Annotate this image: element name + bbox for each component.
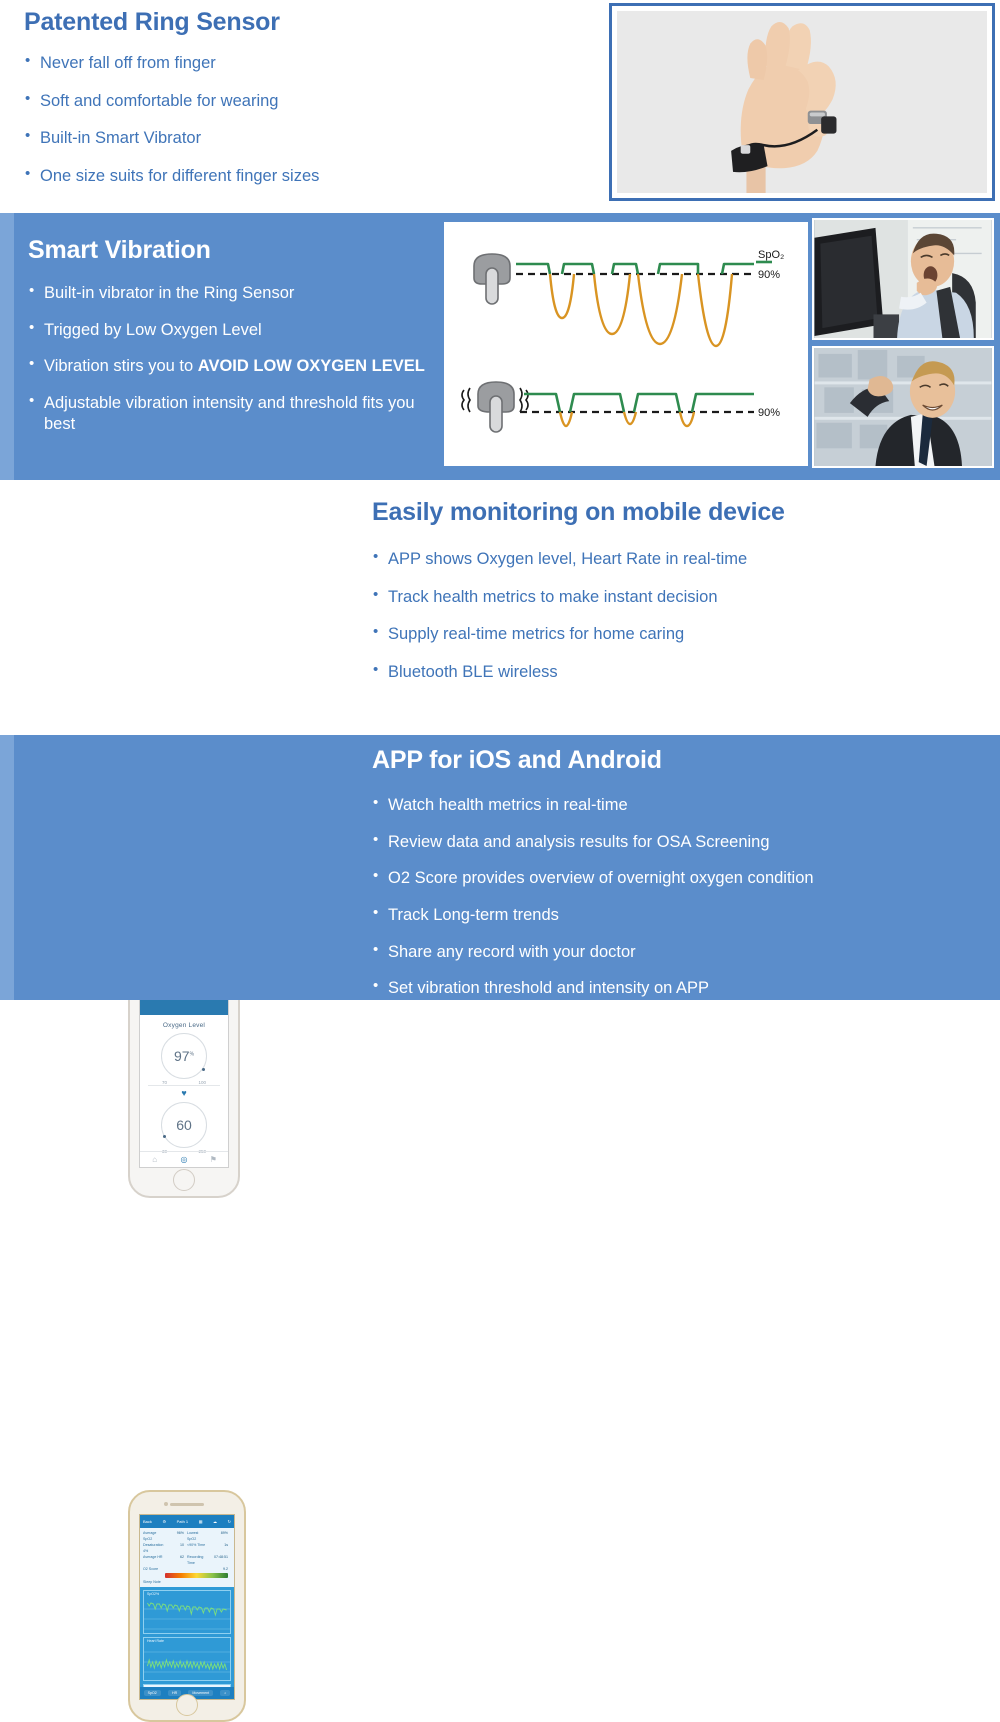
phone-mockup-oxygen: Oxygen Level 97% 70 100 ♥ 60 [128,968,240,1198]
heart-rate-trend-chart[interactable]: Heart Rate [143,1637,231,1681]
list-item: Set vibration threshold and intensity on… [372,978,982,999]
phone-mockup-report: Back ⚙ Path 1 ▦ ☁ ↻ Average SpO2 96% Low… [128,1490,246,1722]
gear-icon[interactable]: ⚙ [162,1519,166,1524]
stat-value-2: 89% [208,1530,232,1542]
table-row: Desaturation 4% 10 <90% Time 1s [143,1542,231,1554]
page-title: Patented Ring Sensor [24,8,584,37]
list-item: One size suits for different finger size… [24,166,584,187]
cloud-icon[interactable]: ☁ [213,1519,217,1524]
chart-label: Heart Rate [147,1639,164,1643]
screen-title: Oxygen Level [140,1015,228,1029]
list-item: Review data and analysis results for OSA… [372,832,982,853]
list-item: Adjustable vibration intensity and thres… [28,393,448,434]
ring-sensor-photo-inner [617,11,987,193]
search-icon[interactable]: ⌕ [220,1690,230,1696]
phone-screen-report: Back ⚙ Path 1 ▦ ☁ ↻ Average SpO2 96% Low… [139,1514,235,1700]
report-title: Path 1 [177,1519,189,1524]
tab-hr[interactable]: HR [168,1690,181,1696]
monitor-icon[interactable]: ◎ [169,1152,198,1167]
section-title-app: APP for iOS and Android [372,746,982,775]
ring-sensor-photo [609,3,995,201]
heart-rate-gauge: 60 30 250 [140,1098,228,1152]
home-button[interactable] [173,1169,195,1191]
spo2-value: 97 [174,1048,190,1064]
chart-label: SpO2% [147,1592,159,1596]
table-row: Average SpO2 96% Lowest SpO2 89% [143,1530,231,1542]
monitoring-text-block: Easily monitoring on mobile device APP s… [372,498,972,700]
app-bottom-nav: ⌂ ◎ ⚑ [140,1151,228,1167]
list-item-emphasis: AVOID LOW OXYGEN LEVEL [198,357,425,375]
spo2-waveform-svg: SpO₂ 90% 90% [444,222,808,466]
product-infographic: Patented Ring Sensor Never fall off from… [0,0,1000,1000]
list-item: O2 Score provides overview of overnight … [372,868,982,889]
stat-label: Desaturation 4% [143,1542,164,1554]
section-patented-ring-sensor: Patented Ring Sensor Never fall off from… [0,0,1000,208]
hand-with-ring-sensor-illustration [617,11,987,193]
spo2-trend-chart[interactable]: SpO2% [143,1590,231,1634]
table-row: O2 Score 9.2 [143,1566,231,1572]
flag-icon[interactable]: ⚑ [199,1152,228,1167]
tab-spo2[interactable]: SpO2 [144,1690,161,1696]
list-item: APP shows Oxygen level, Heart Rate in re… [372,549,972,570]
stat-label: O2 Score [143,1566,186,1572]
stat-value: 10 [164,1542,188,1554]
stat-value-2: 07:48:51 [208,1554,232,1566]
stat-label-2: Lowest SpO2 [187,1530,208,1542]
grid-icon[interactable]: ▦ [199,1519,203,1524]
list-item: Track Long-term trends [372,905,982,926]
list-item: Trigged by Low Oxygen Level [28,320,448,341]
heart-icon: ♥ [140,1088,228,1098]
spo2-unit: % [190,1051,194,1057]
energetic-man-photo [812,346,994,468]
list-item: Built-in vibrator in the Ring Sensor [28,283,448,304]
stat-value: 62 [164,1554,188,1566]
section-easily-monitoring: Oxygen Level 97% 70 100 ♥ 60 [0,480,1000,730]
heart-rate-gauge-marker [163,1135,166,1138]
stat-value-2: 1s [208,1542,232,1554]
energetic-man-illustration [814,348,992,466]
spo2-gauge: 97% 70 100 [140,1029,228,1083]
tired-man-photo [812,218,994,340]
table-row: Average HR 62 Recording Time 07:48:51 [143,1554,231,1566]
o2-score-color-bar [165,1573,228,1578]
spo2-gauge-max: 100 [198,1080,206,1085]
section-app-ios-android: Back ⚙ Path 1 ▦ ☁ ↻ Average SpO2 96% Low… [0,730,1000,1000]
legend-threshold-top: 90% [758,269,780,281]
section-title-monitoring: Easily monitoring on mobile device [372,498,972,527]
section-title-smart-vibration: Smart Vibration [28,236,448,265]
list-item: Share any record with your doctor [372,942,982,963]
monitoring-bullet-list: APP shows Oxygen level, Heart Rate in re… [372,549,972,683]
spo2-gauge-ring: 97% [161,1033,207,1079]
ring-sensor-bullet-list: Never fall off from finger Soft and comf… [24,53,584,187]
mood-photo-group [812,218,994,470]
list-item-text: Vibration stirs you to [44,357,198,375]
heart-rate-value: 60 [176,1117,192,1133]
divider [148,1085,220,1086]
list-item: Vibration stirs you to AVOID LOW OXYGEN … [28,356,448,377]
heart-rate-trend-svg [144,1638,230,1681]
spo2-value-wrap: 97% [174,1048,194,1064]
smart-vibration-text-block: Smart Vibration Built-in vibrator in the… [28,236,448,450]
stat-label: Average SpO2 [143,1530,164,1542]
stat-label-2: <90% Time [187,1542,208,1554]
app-bullet-list: Watch health metrics in real-time Review… [372,795,982,999]
home-icon[interactable]: ⌂ [140,1152,169,1167]
report-stats-table: Average SpO2 96% Lowest SpO2 89% Desatur… [140,1528,234,1587]
speaker-grille [170,1503,204,1506]
spo2-gauge-min: 70 [162,1080,167,1085]
list-item: Watch health metrics in real-time [372,795,982,816]
stat-value: 96% [164,1530,188,1542]
spo2-trend-svg [144,1591,230,1634]
spo2-vibration-chart: SpO₂ 90% 90% [440,218,812,470]
list-item: Never fall off from finger [24,53,584,74]
app-text-block: APP for iOS and Android Watch health met… [372,746,982,1015]
list-item: Built-in Smart Vibrator [24,128,584,149]
smart-vibration-bullet-list: Built-in vibrator in the Ring Sensor Tri… [28,283,448,434]
home-button[interactable] [176,1694,198,1716]
legend-spo2: SpO₂ [758,249,784,261]
refresh-icon[interactable]: ↻ [228,1519,231,1524]
ring-sensor-text-block: Patented Ring Sensor Never fall off from… [24,8,584,204]
report-charts: SpO2% Heart Rate [140,1587,234,1700]
stat-label: Average HR [143,1554,164,1566]
heart-rate-gauge-ring: 60 [161,1102,207,1148]
phone-screen-oxygen: Oxygen Level 97% 70 100 ♥ 60 [139,996,229,1168]
legend-threshold-bottom: 90% [758,407,780,419]
back-button[interactable]: Back [143,1519,152,1524]
list-item: Track health metrics to make instant dec… [372,587,972,608]
section-smart-vibration: Smart Vibration Built-in vibrator in the… [0,208,1000,480]
list-item: Supply real-time metrics for home caring [372,624,972,645]
list-item: Bluetooth BLE wireless [372,662,972,683]
camera-icon [164,1502,168,1506]
spo2-gauge-marker [202,1068,205,1071]
list-item: Soft and comfortable for wearing [24,91,584,112]
table-row: Sleep Note [143,1579,231,1585]
tired-man-illustration [814,220,992,338]
stat-label-2: Recording Time [187,1554,208,1566]
report-top-bar: Back ⚙ Path 1 ▦ ☁ ↻ [140,1515,234,1528]
stat-label: Sleep Note [143,1579,231,1585]
stat-value: 9.2 [186,1566,232,1572]
